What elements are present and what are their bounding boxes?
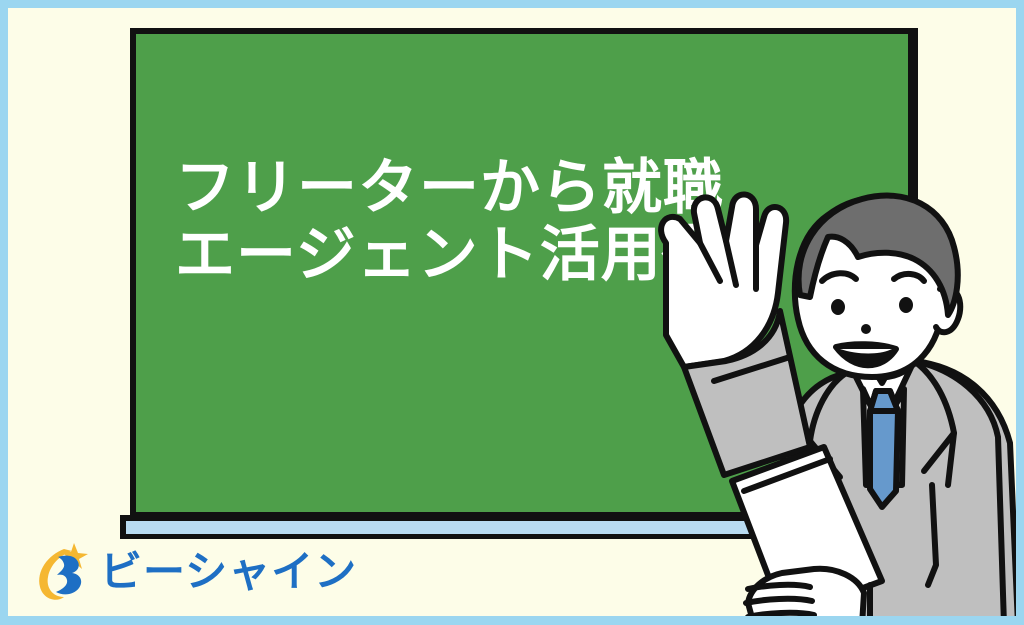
- frame-right-edge: [1016, 0, 1024, 625]
- necktie-knot: [870, 391, 898, 411]
- frame-bottom-edge: [0, 616, 1024, 625]
- eye-left: [831, 299, 845, 315]
- nose: [861, 324, 871, 334]
- frame-top-edge: [0, 0, 1024, 8]
- logo-brand-text: ビーシャイン: [100, 551, 357, 593]
- letter-b-shape: [56, 556, 81, 595]
- frame-left-edge: [0, 0, 8, 625]
- b-shine-star-swoosh-icon: [34, 541, 90, 603]
- presenter-illustration: [614, 185, 1024, 625]
- banner-canvas: フリーターから就職 エージェント活用術: [0, 0, 1024, 625]
- eye-right: [899, 297, 913, 313]
- businessman-figure: [614, 185, 1024, 625]
- site-logo[interactable]: ビーシャイン: [34, 541, 357, 603]
